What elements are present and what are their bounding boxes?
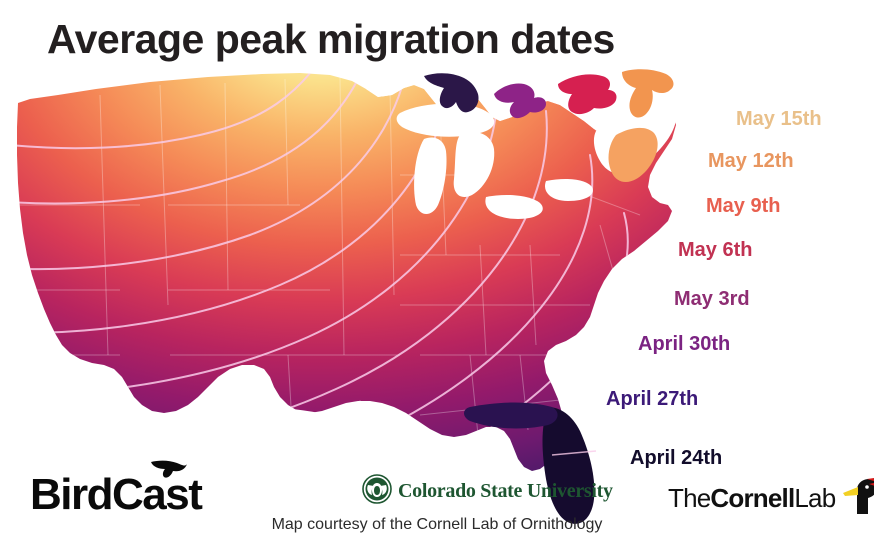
bird-silhouette-1-icon [424,73,479,112]
colorado-state-university-logo: Colorado State University [362,474,613,508]
woodpecker-head-icon [837,476,874,521]
bird-silhouette-4-icon [622,69,673,117]
csu-wordmark: Colorado State University [398,480,613,503]
date-label-april-27: April 27th [606,388,698,411]
migration-map [0,55,740,525]
infographic-canvas: May 15th May 12th May 9th May 6th May 3r… [0,0,874,551]
cornell-the: The [668,483,710,513]
date-label-may-6: May 6th [678,239,752,262]
date-label-april-30: April 30th [638,333,730,356]
ram-head-icon [362,474,392,509]
us-map-svg [0,55,740,525]
page-title: Average peak migration dates [47,16,615,63]
date-label-may-3: May 3rd [674,288,750,311]
cornell-lab-wordmark: TheCornellLab [668,483,835,514]
birdcast-logo: BirdCast [30,462,245,522]
bird-silhouettes [418,60,678,122]
date-label-april-24: April 24th [630,447,722,470]
date-label-may-9: May 9th [706,195,780,218]
cornell-cornell: Cornell [710,483,794,513]
cornell-lab-logo: TheCornellLab [668,478,874,518]
bird-silhouette-3-icon [558,74,617,114]
date-label-may-15: May 15th [736,108,822,131]
date-label-may-12: May 12th [708,150,794,173]
cornell-lab: Lab [794,483,835,513]
bird-silhouette-2-icon [494,83,546,118]
map-caption: Map courtesy of the Cornell Lab of Ornit… [0,516,874,534]
birdcast-wordmark: BirdCast [30,470,201,520]
